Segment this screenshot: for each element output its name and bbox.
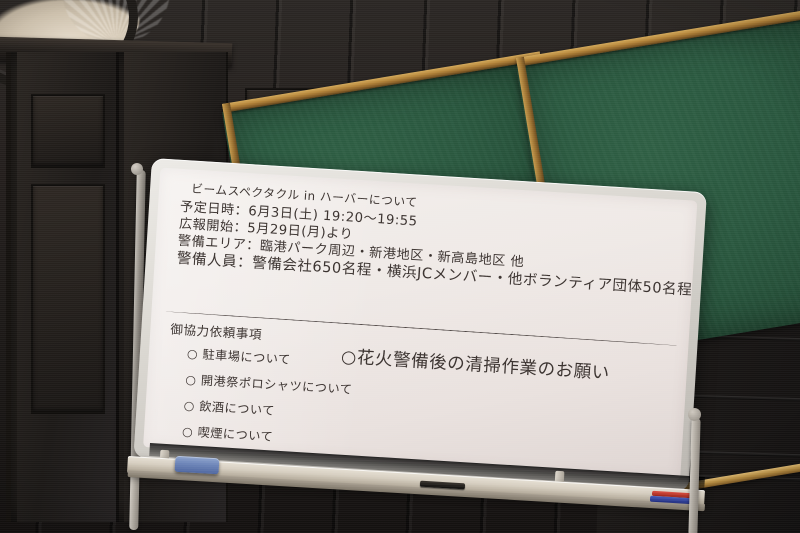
bullet-parking: ○ 駐車場について: [186, 344, 354, 372]
whiteboard[interactable]: ビームスペクタクル in ハーバーについて 予定日時：6月3日(土) 19:20…: [133, 158, 707, 492]
photo-scene: ビームスペクタクル in ハーバーについて 予定日時：6月3日(土) 19:20…: [0, 0, 800, 533]
whiteboard-surface[interactable]: ビームスペクタクル in ハーバーについて 予定日時：6月3日(土) 19:20…: [143, 168, 697, 481]
door-panel: [31, 184, 105, 414]
stand-post-cap: [131, 163, 143, 175]
bullet-drinking: ○ 飲酒について: [183, 395, 351, 423]
cleanup-request-note: ○花火警備後の清掃作業のお願い: [340, 343, 610, 385]
whiteboard-upper-section: ビームスペクタクル in ハーバーについて 予定日時：6月3日(土) 19:20…: [176, 183, 686, 302]
door-leaf-left[interactable]: [17, 52, 119, 522]
cooperation-request-list: 御協力依頼事項 ○ 駐車場について ○ 開港祭ポロシャツについて ○ 飲酒につい…: [163, 318, 356, 457]
cleanup-request-text: ○花火警備後の清掃作業のお願い: [340, 347, 610, 384]
stand-post-cap: [688, 408, 701, 421]
blue-eraser[interactable]: [175, 456, 220, 475]
door-panel: [31, 94, 105, 168]
bullet-polo-shirt: ○ 開港祭ポロシャツについて: [185, 370, 353, 398]
